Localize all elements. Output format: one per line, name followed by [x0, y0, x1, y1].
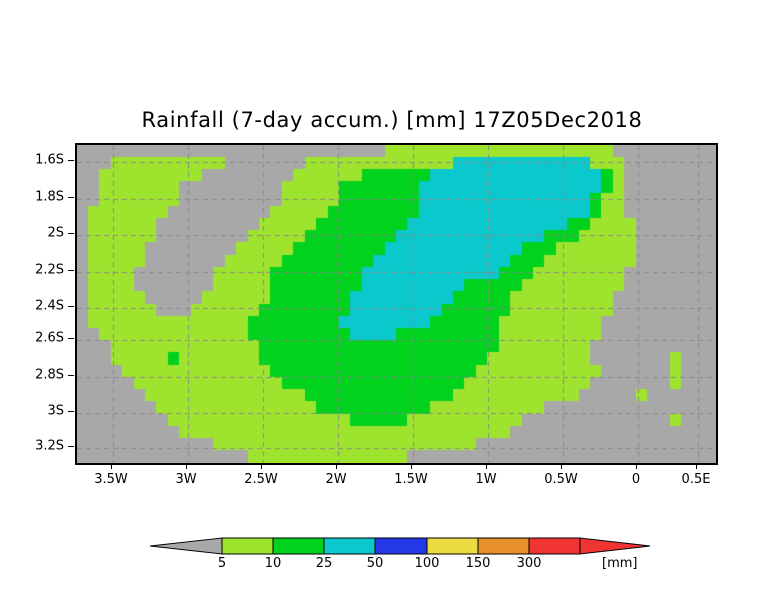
- y-tick-mark: [68, 197, 74, 198]
- x-tick-mark: [186, 463, 187, 469]
- y-tick-mark: [68, 338, 74, 339]
- y-tick-mark: [68, 270, 74, 271]
- y-tick-mark: [68, 411, 74, 412]
- map-plot-area: [75, 143, 718, 465]
- y-tick-label: 2S: [47, 226, 64, 241]
- y-tick-label: 1.8S: [35, 190, 64, 205]
- colorbar-tick-label: 50: [367, 556, 384, 571]
- colorbar-segment: [273, 538, 324, 554]
- x-tick-label: 1W: [475, 472, 496, 487]
- colorbar-segment: [478, 538, 529, 554]
- colorbar-segment: [375, 538, 427, 554]
- y-tick-label: 3S: [47, 404, 64, 419]
- colorbar-tick-label: 100: [415, 556, 440, 571]
- colorbar-segment: [222, 538, 273, 554]
- x-tick-mark: [696, 463, 697, 469]
- x-tick-label: 3W: [175, 472, 196, 487]
- colorbar-swatches: [150, 530, 670, 560]
- x-tick-label: 2W: [325, 472, 346, 487]
- colorbar-tick-label: 5: [218, 556, 226, 571]
- colorbar-segment: [427, 538, 478, 554]
- x-tick-label: 0: [632, 472, 640, 487]
- y-tick-label: 2.6S: [35, 331, 64, 346]
- chart-title: Rainfall (7-day accum.) [mm] 17Z05Dec201…: [0, 108, 784, 132]
- y-tick-mark: [68, 160, 74, 161]
- x-tick-mark: [111, 463, 112, 469]
- y-tick-label: 2.4S: [35, 299, 64, 314]
- y-tick-label: 1.6S: [35, 153, 64, 168]
- x-tick-mark: [486, 463, 487, 469]
- colorbar-tick-label: 300: [517, 556, 542, 571]
- colorbar-tick-label: 25: [316, 556, 333, 571]
- x-tick-label: 2.5W: [244, 472, 278, 487]
- x-tick-label: 1.5W: [394, 472, 428, 487]
- colorbar-over-arrow: [580, 538, 650, 554]
- x-tick-label: 0.5W: [544, 472, 578, 487]
- colorbar-tick-label: 10: [265, 556, 282, 571]
- colorbar-segment: [529, 538, 580, 554]
- colorbar-tick-label: 150: [466, 556, 491, 571]
- y-tick-label: 3.2S: [35, 439, 64, 454]
- rainfall-map-figure: Rainfall (7-day accum.) [mm] 17Z05Dec201…: [0, 0, 784, 612]
- x-tick-mark: [261, 463, 262, 469]
- y-tick-label: 2.8S: [35, 368, 64, 383]
- x-tick-mark: [336, 463, 337, 469]
- x-tick-label: 3.5W: [94, 472, 128, 487]
- y-tick-mark: [68, 446, 74, 447]
- y-tick-mark: [68, 375, 74, 376]
- y-tick-mark: [68, 306, 74, 307]
- colorbar: 5102550100150300 [mm]: [150, 530, 670, 586]
- colorbar-segment: [324, 538, 375, 554]
- x-tick-mark: [636, 463, 637, 469]
- y-tick-label: 2.2S: [35, 263, 64, 278]
- colorbar-unit-label: [mm]: [602, 556, 637, 571]
- rainfall-heatmap-canvas: [77, 145, 716, 463]
- x-tick-label: 0.5E: [682, 472, 711, 487]
- x-tick-mark: [561, 463, 562, 469]
- y-tick-mark: [68, 233, 74, 234]
- x-tick-mark: [411, 463, 412, 469]
- colorbar-under-arrow: [150, 538, 222, 554]
